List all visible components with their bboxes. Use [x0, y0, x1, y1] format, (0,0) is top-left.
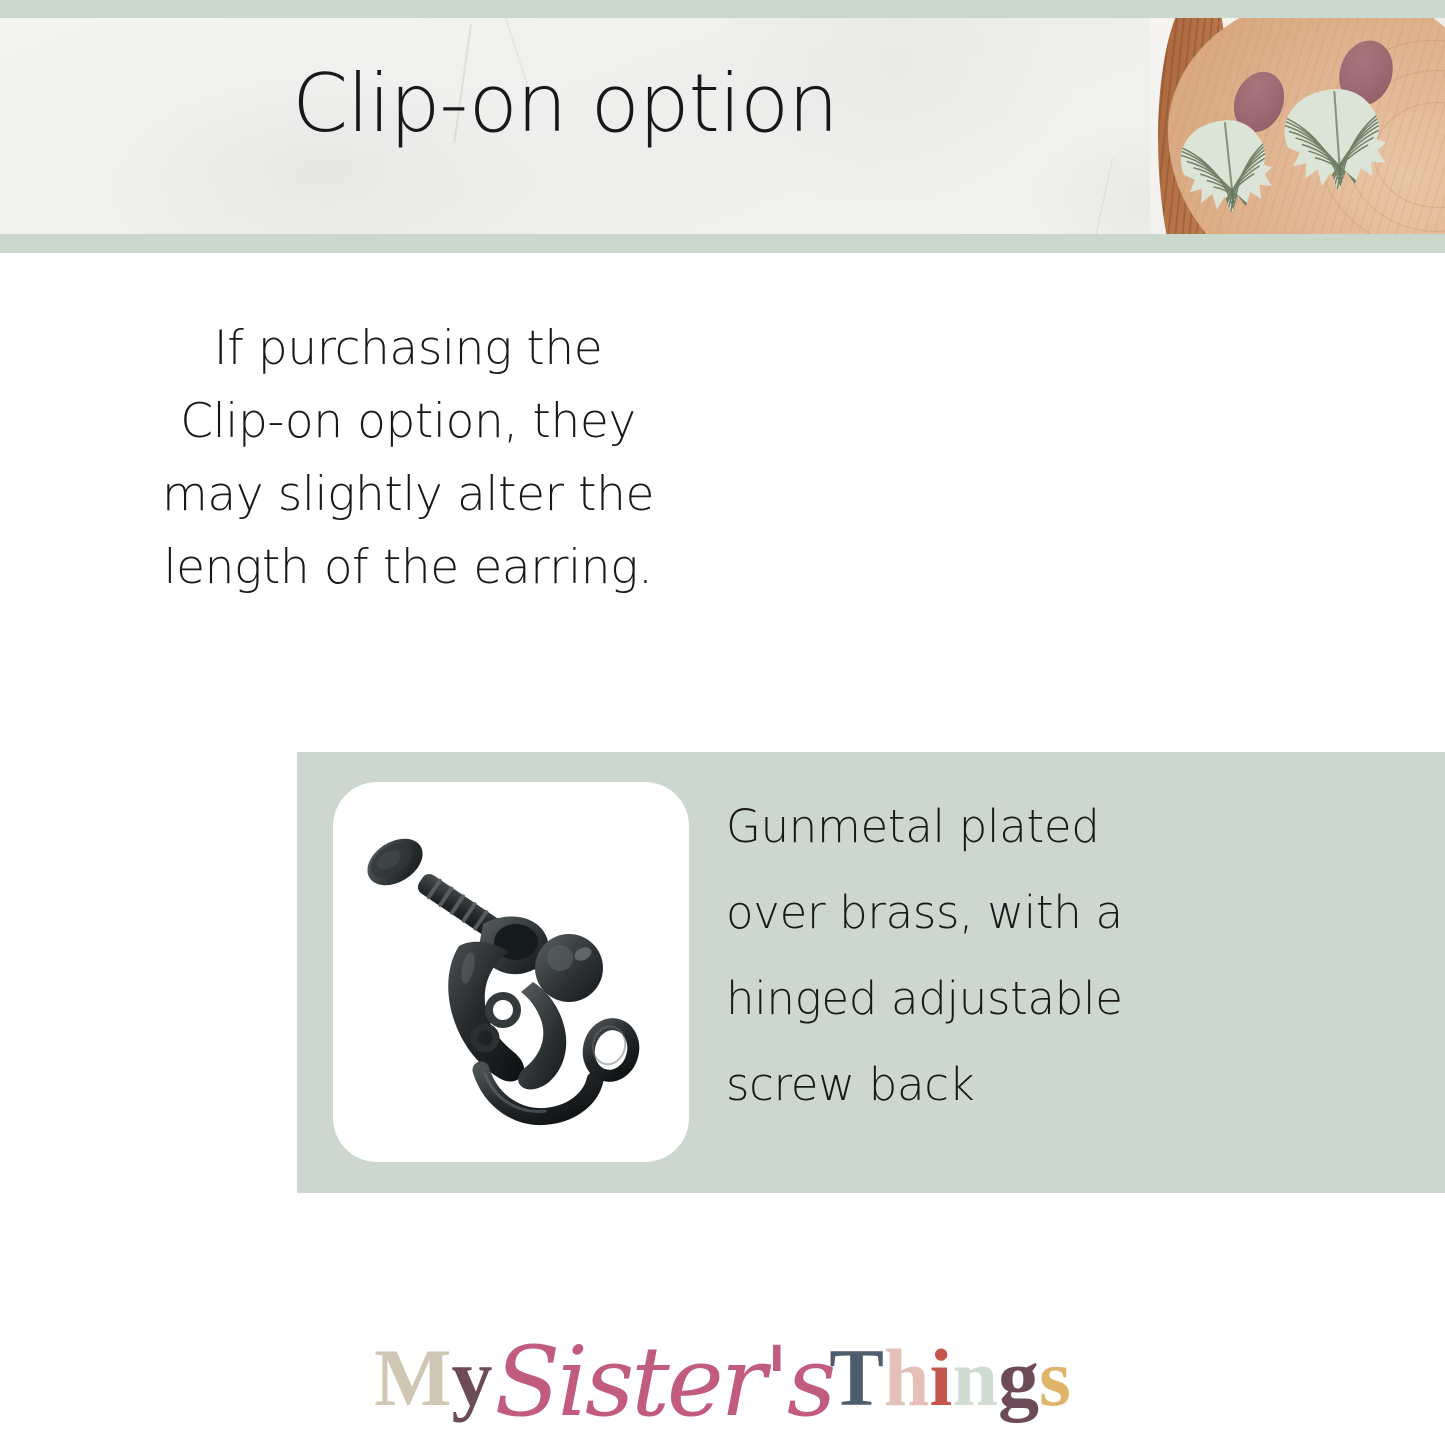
clip-on-finding-thumbnail	[333, 782, 689, 1162]
intro-line: Clip-on option, they	[88, 385, 728, 458]
clip-on-description: Gunmetal plated over brass, with a hinge…	[726, 784, 1366, 1128]
marble-vein-icon	[1095, 158, 1113, 234]
clip-on-info-card: Gunmetal plated over brass, with a hinge…	[297, 752, 1445, 1193]
header-banner: Clip-on option	[0, 0, 1445, 253]
logo-letter-t: T	[829, 1332, 884, 1423]
description-line: hinged adjustable	[726, 956, 1366, 1042]
logo-letter-i: i	[930, 1332, 953, 1423]
monstera-leaf-charm	[1278, 81, 1398, 207]
description-line: Gunmetal plated	[726, 784, 1366, 870]
clip-on-earring-finding-icon	[333, 782, 689, 1162]
logo-script-sisters: Sister's	[495, 1326, 834, 1438]
header-product-photo	[1150, 18, 1445, 234]
logo-letter-n: n	[952, 1332, 998, 1423]
intro-line: If purchasing the	[88, 312, 728, 385]
description-line: over brass, with a	[726, 870, 1366, 956]
intro-paragraph: If purchasing the Clip-on option, they m…	[88, 312, 728, 604]
logo-letter-g: g	[998, 1332, 1039, 1423]
brand-logo-wordmark: MySister'sThings	[374, 1318, 1071, 1438]
logo-letter-s: s	[1039, 1332, 1071, 1423]
header-top-accent-band	[0, 0, 1445, 18]
intro-line: length of the earring.	[88, 531, 728, 604]
logo-letter-y: y	[452, 1332, 493, 1423]
monstera-leaf-charm	[1175, 111, 1286, 231]
intro-line: may slightly alter the	[88, 458, 728, 531]
logo-letter-h: h	[884, 1332, 930, 1423]
header-bottom-accent-band	[0, 234, 1445, 253]
description-line: screw back	[726, 1042, 1366, 1128]
brand-logo: MySister'sThings	[0, 1318, 1445, 1438]
page-title: Clip-on option	[0, 64, 1130, 144]
logo-letter-m: M	[374, 1332, 451, 1423]
